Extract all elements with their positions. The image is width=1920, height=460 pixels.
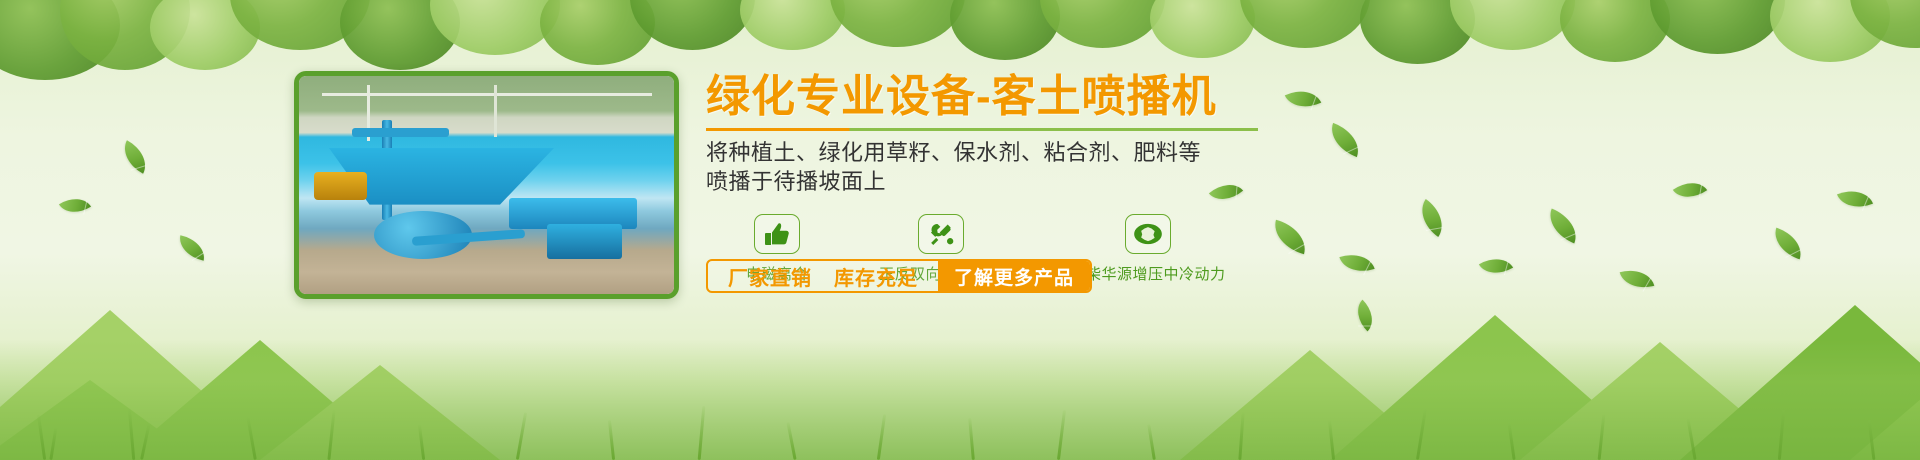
thumbs-up-icon bbox=[754, 214, 800, 254]
page-title: 绿化专业设备-客土喷播机 bbox=[706, 74, 1606, 120]
cta-tags: 厂家直销 库存充足 bbox=[708, 261, 938, 291]
banner-content: 绿化专业设备-客土喷播机 将种植土、绿化用草籽、保水剂、粘合剂、肥料等 喷播于待… bbox=[706, 74, 1606, 284]
cta-tag-direct-sales: 厂家直销 bbox=[728, 262, 812, 291]
cta-bar: 厂家直销 库存充足 了解更多产品 bbox=[706, 259, 1092, 293]
product-photo bbox=[294, 71, 679, 299]
gear-icon bbox=[1125, 214, 1171, 254]
tools-icon bbox=[918, 214, 964, 254]
grass-strip bbox=[0, 340, 1920, 460]
learn-more-button[interactable]: 了解更多产品 bbox=[938, 261, 1090, 291]
title-divider bbox=[706, 128, 1258, 131]
subtitle-line-2: 喷播于待播坡面上 bbox=[706, 167, 1606, 196]
subtitle-line-1: 将种植土、绿化用草籽、保水剂、粘合剂、肥料等 bbox=[706, 138, 1606, 167]
promo-banner: 绿化专业设备-客土喷播机 将种植土、绿化用草籽、保水剂、粘合剂、肥料等 喷播于待… bbox=[0, 0, 1920, 460]
cta-tag-stock: 库存充足 bbox=[834, 262, 918, 291]
subtitle: 将种植土、绿化用草籽、保水剂、粘合剂、肥料等 喷播于待播坡面上 bbox=[706, 138, 1606, 196]
product-photo-image bbox=[299, 76, 674, 294]
feature-label: 潍柴华源增压中冷动力 bbox=[1070, 263, 1225, 284]
